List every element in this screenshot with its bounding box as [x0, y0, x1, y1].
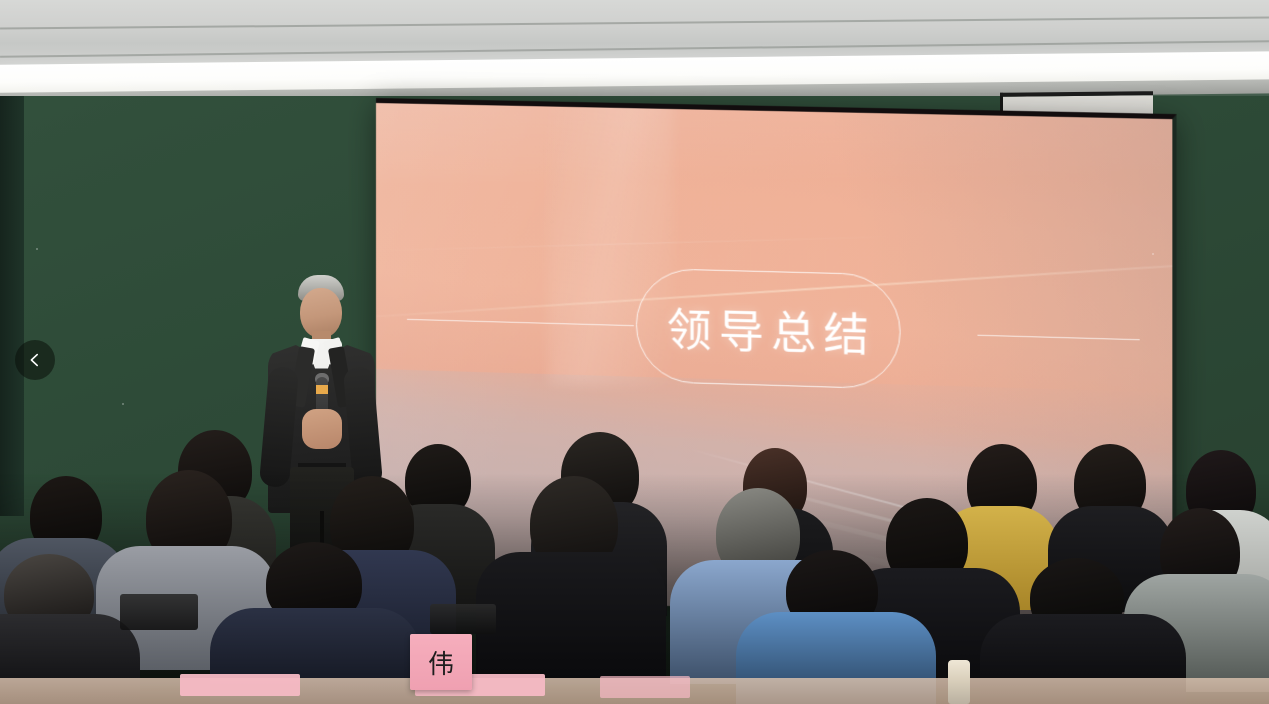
attendee-body	[476, 552, 666, 680]
water-bottle	[948, 660, 970, 704]
paper-sheet	[180, 674, 300, 696]
paper-sheet	[600, 676, 690, 698]
microphone-band	[316, 385, 328, 394]
dust-speck	[122, 403, 124, 405]
name-placard-text: 伟	[428, 644, 454, 681]
laptop	[120, 594, 198, 630]
name-placard: 伟	[410, 634, 472, 690]
dust-speck	[1152, 253, 1154, 255]
chevron-left-icon	[27, 352, 43, 368]
presentation-photo: 领导总结	[0, 0, 1269, 704]
laptop	[430, 604, 496, 634]
slide-title-pill: 领导总结	[636, 268, 901, 390]
dust-speck	[36, 248, 38, 250]
wall-left-shadow	[0, 96, 24, 516]
speaker-hands	[302, 409, 342, 449]
prev-slide-button[interactable]	[15, 340, 55, 380]
slide-title-text: 领导总结	[659, 293, 875, 364]
